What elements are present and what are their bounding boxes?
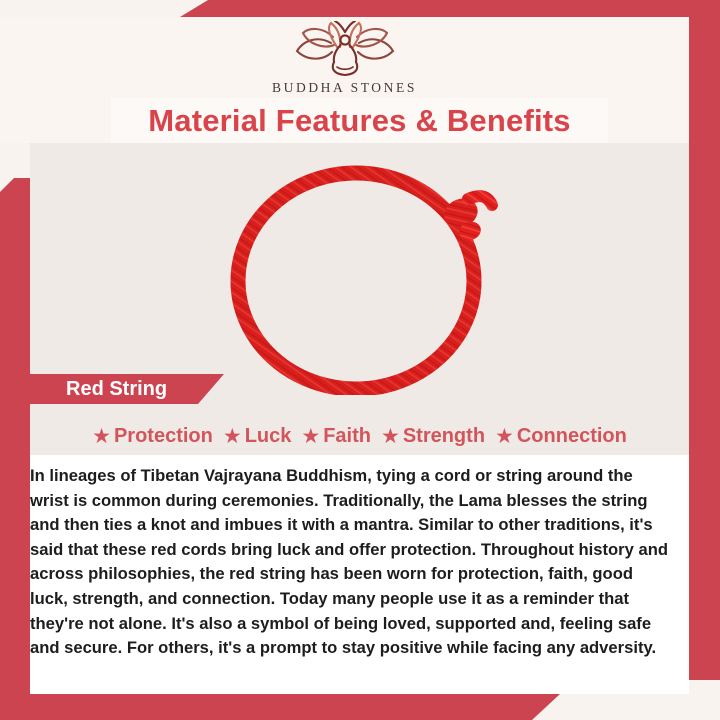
red-braided-string-bracelet-icon bbox=[216, 155, 506, 395]
benefit-item-connection: ★ Connection bbox=[495, 425, 627, 448]
lotus-meditation-icon bbox=[291, 21, 399, 79]
bottom-accent-band bbox=[0, 694, 560, 720]
benefit-label: Luck bbox=[245, 425, 292, 448]
star-icon: ★ bbox=[381, 426, 400, 447]
description-text: In lineages of Tibetan Vajrayana Buddhis… bbox=[30, 464, 673, 661]
top-accent-band bbox=[180, 0, 720, 17]
right-accent-bar bbox=[689, 17, 720, 680]
brand-name: BUDDHA STONES bbox=[0, 80, 689, 96]
star-icon: ★ bbox=[223, 426, 242, 447]
left-accent-bar bbox=[0, 178, 30, 694]
benefit-item-strength: ★ Strength bbox=[381, 425, 485, 448]
benefit-label: Faith bbox=[323, 425, 371, 448]
benefit-label: Connection bbox=[517, 425, 627, 448]
brand-logo: BUDDHA STONES bbox=[0, 21, 689, 96]
star-icon: ★ bbox=[92, 426, 111, 447]
description-panel: In lineages of Tibetan Vajrayana Buddhis… bbox=[30, 455, 689, 694]
benefit-label: Strength bbox=[403, 425, 485, 448]
benefits-list: ★ Protection ★ Luck ★ Faith ★ Strength ★… bbox=[30, 418, 689, 455]
product-name-ribbon: Red String bbox=[30, 374, 224, 404]
product-name: Red String bbox=[66, 378, 167, 401]
infographic-card: BUDDHA STONES Material Features & Benefi… bbox=[0, 0, 720, 720]
benefit-item-luck: ★ Luck bbox=[223, 425, 292, 448]
star-icon: ★ bbox=[495, 426, 514, 447]
benefit-label: Protection bbox=[114, 425, 213, 448]
product-image-area bbox=[30, 143, 689, 455]
page-title: Material Features & Benefits bbox=[148, 103, 571, 139]
benefit-item-faith: ★ Faith bbox=[301, 425, 371, 448]
benefit-item-protection: ★ Protection bbox=[92, 425, 213, 448]
star-icon: ★ bbox=[301, 426, 320, 447]
title-banner: Material Features & Benefits bbox=[111, 98, 608, 143]
